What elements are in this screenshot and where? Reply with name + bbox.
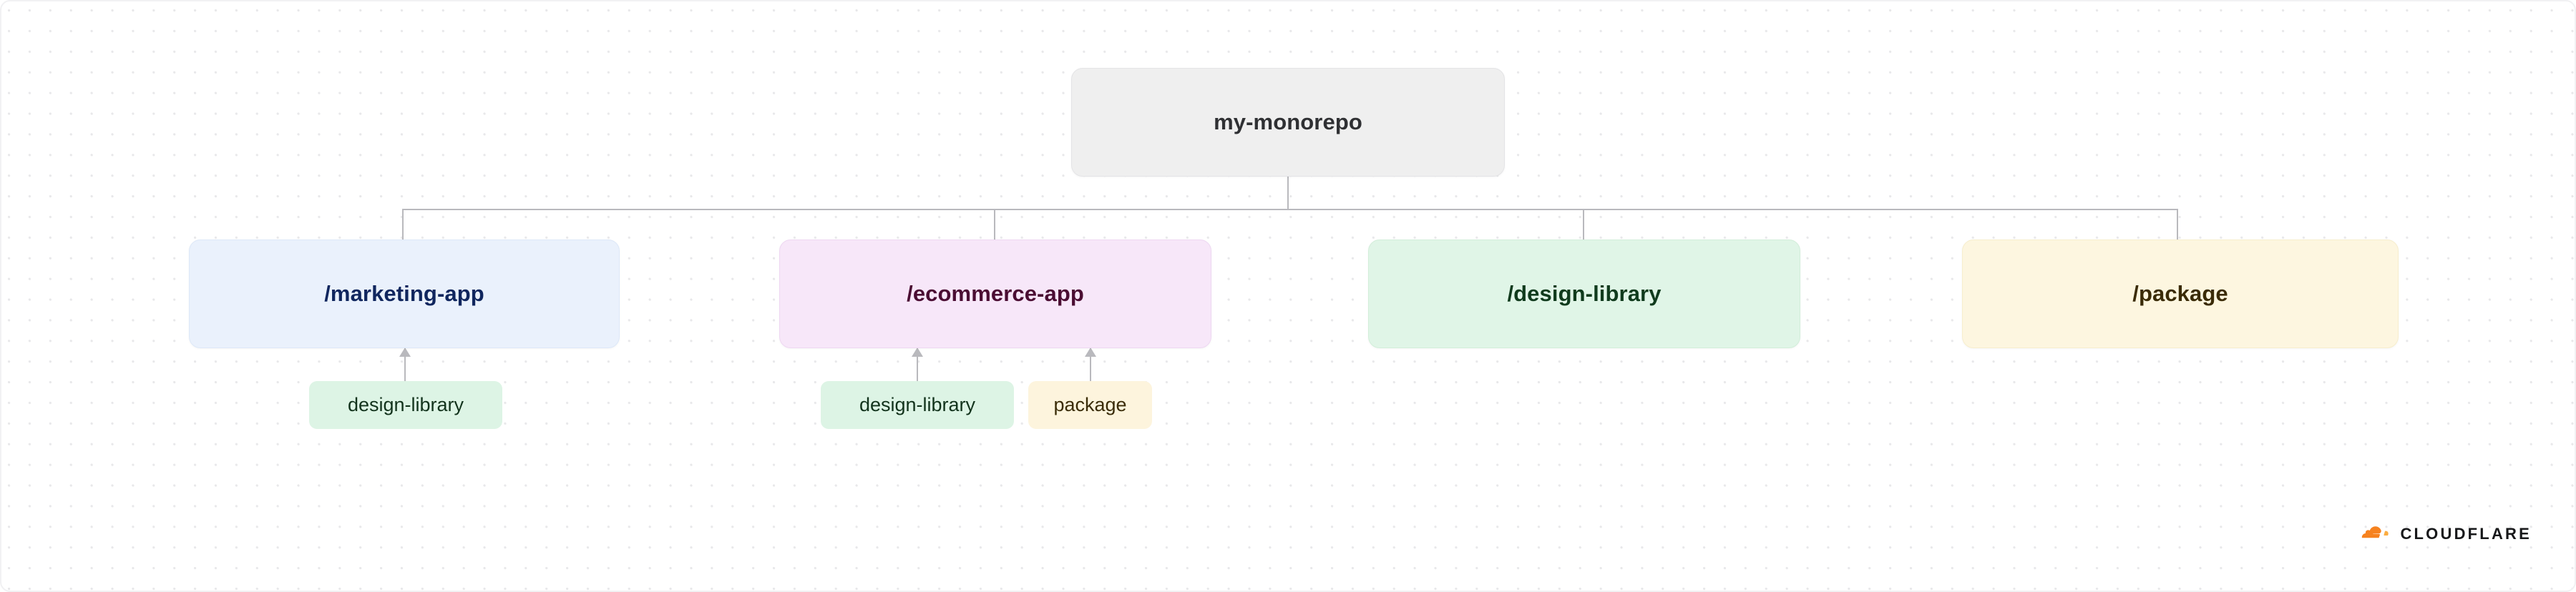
cloudflare-logo: CLOUDFLARE: [2351, 521, 2532, 546]
node-label-design-library: /design-library: [1507, 281, 1661, 307]
node-my-monorepo[interactable]: my-monorepo: [1071, 68, 1505, 177]
connector-drop-marketing-app: [402, 209, 404, 241]
node-label-ecommerce-app: /ecommerce-app: [907, 281, 1084, 307]
cloudflare-cloud-icon: [2351, 521, 2391, 546]
connector-drop-package: [2177, 209, 2178, 241]
arrow-design-library-to-marketing-app: [404, 348, 406, 381]
node-label-marketing-app: /marketing-app: [324, 281, 484, 307]
dependency-badge-ecommerce-app-design-library[interactable]: design-library: [821, 381, 1014, 429]
arrow-package-to-ecommerce-app: [1090, 348, 1091, 381]
node-package[interactable]: /package: [1962, 240, 2399, 348]
arrow-design-library-to-ecommerce-app: [917, 348, 918, 381]
diagram-canvas: my-monorepo /marketing-app /ecommerce-ap…: [0, 0, 2576, 592]
dependency-badge-marketing-app-design-library[interactable]: design-library: [309, 381, 502, 429]
node-ecommerce-app[interactable]: /ecommerce-app: [779, 240, 1211, 348]
node-design-library[interactable]: /design-library: [1368, 240, 1800, 348]
node-label-my-monorepo: my-monorepo: [1214, 109, 1362, 135]
node-marketing-app[interactable]: /marketing-app: [189, 240, 620, 348]
dependency-badge-label: design-library: [859, 394, 975, 416]
node-label-package: /package: [2132, 281, 2228, 307]
dependency-badge-label: package: [1053, 394, 1126, 416]
connector-root-stem: [1287, 177, 1289, 209]
cloudflare-wordmark: CLOUDFLARE: [2400, 525, 2532, 543]
connector-drop-ecommerce-app: [994, 209, 995, 241]
connector-horizontal-bus: [402, 209, 2178, 210]
dependency-badge-label: design-library: [348, 394, 464, 416]
connector-drop-design-library: [1583, 209, 1584, 241]
dependency-badge-ecommerce-app-package[interactable]: package: [1028, 381, 1152, 429]
